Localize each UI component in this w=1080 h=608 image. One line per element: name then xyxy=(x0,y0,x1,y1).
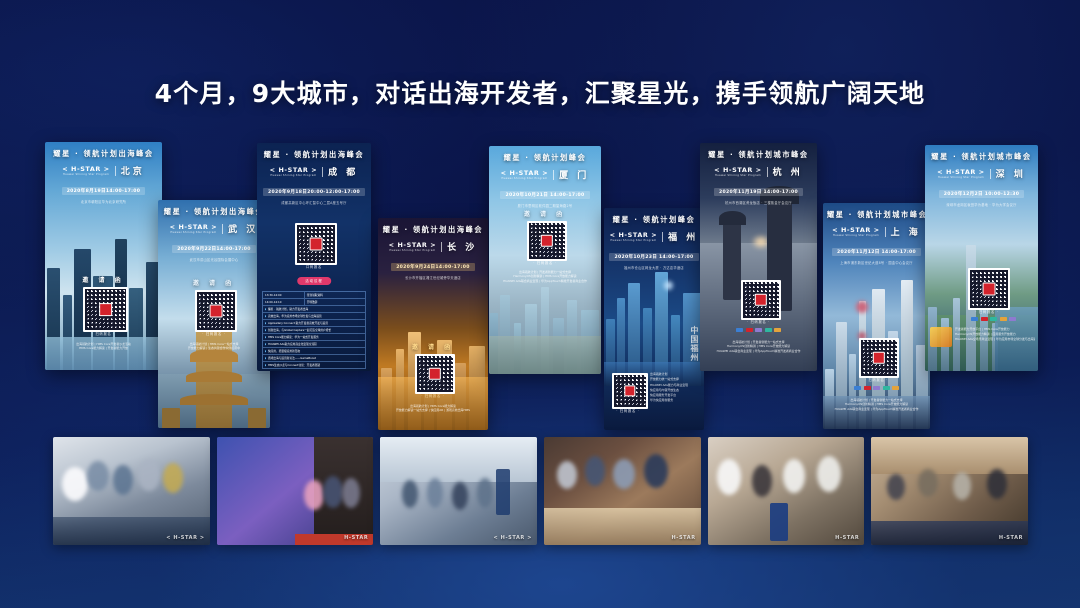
invite-label: 邀 请 函 xyxy=(489,209,601,218)
photo-watermark: H-STAR xyxy=(999,535,1023,541)
divider xyxy=(885,227,886,237)
qr-caption: · 扫码报名 · xyxy=(378,393,488,398)
poster-hangzhou[interactable]: 耀星 · 领航计划城市峰会 < H-STAR > Huawei Shining … xyxy=(700,143,817,371)
qr-code[interactable] xyxy=(859,338,899,378)
brand-logo: < H-STAR > Huawei Shining Star Program xyxy=(714,166,762,178)
poster-venue: 武汉市洪山区光谷国际会展中心 xyxy=(162,257,266,262)
table-row: 游戏出海与运营新玩法——GameBoost xyxy=(263,355,365,362)
fuzhou-skyline xyxy=(604,257,704,386)
poster-date: 2020年10月23日 14:00-17:00 xyxy=(609,253,698,261)
poster-footer: 出海领航计划 | 开发者新能力一站式支撑 HarmonyOS创新精讲 | HMS… xyxy=(826,398,927,411)
shanghai-header: 耀星 · 领航计划城市峰会 < H-STAR > Huawei Shining … xyxy=(823,203,930,271)
poster-footer: 开发者能力开放平台 | HMS Core开放能力 HarmonyOS开放能力精讲… xyxy=(955,327,1035,343)
poster-footer: 出海领航计划 开放能力统一站式支撑 HUAWEI Ads能力与商业变现 快应用与… xyxy=(650,372,701,404)
poster-shanghai[interactable]: 耀星 · 领航计划城市峰会 < H-STAR > Huawei Shining … xyxy=(823,203,930,429)
photo-stage-backdrop[interactable]: H-STAR xyxy=(217,437,374,545)
invite-label: 邀 请 函 xyxy=(45,275,162,284)
qr-caption: · 扫码报名 · xyxy=(158,331,270,336)
photo-tea-break[interactable]: H-STAR xyxy=(544,437,701,545)
divider xyxy=(441,242,442,252)
invite-label: 邀 请 函 xyxy=(378,342,488,351)
poster-title: 耀星 · 领航计划出海峰会 xyxy=(382,225,484,235)
divider xyxy=(990,169,991,179)
logo-hms-icon xyxy=(1009,317,1016,321)
qr-code[interactable] xyxy=(741,280,781,320)
qr-caption: · 扫码报名 · xyxy=(608,408,648,413)
table-row: 快应用，轻量级应用新形态 xyxy=(263,348,365,355)
logo-huawei-icon xyxy=(981,317,988,321)
photo-watermark: H-STAR xyxy=(344,535,368,541)
poster-fuzhou[interactable]: 耀星 · 领航计划峰会 < H-STAR > Huawei Shining St… xyxy=(604,208,704,430)
divider xyxy=(222,224,223,234)
chengdu-header: 耀星 · 领航计划出海峰会 < H-STAR > Huawei Shining … xyxy=(257,143,371,211)
logo-quickapp-icon xyxy=(990,317,997,321)
anniversary-badge-icon xyxy=(930,327,952,347)
brand-logo: < H-STAR > Huawei Shining Star Program xyxy=(270,166,318,178)
xiamen-header: 耀星 · 领航计划峰会 < H-STAR > Huawei Shining St… xyxy=(489,146,601,214)
table-row: HMS Core能力解读：华为一站式开发服务 xyxy=(263,334,365,341)
wuhan-header: 耀星 · 领航计划出海峰会 < H-STAR > Huawei Shining … xyxy=(158,200,270,268)
poster-date: 2020年9月24日14:00-17:00 xyxy=(391,263,475,271)
divider xyxy=(662,232,663,242)
divider xyxy=(322,167,323,177)
brand-logo: < H-STAR > Huawei Shining Star Program xyxy=(610,231,658,243)
qr-code[interactable] xyxy=(612,373,648,409)
poster-venue: 北京市朝阳区华为北京研究所 xyxy=(49,199,158,204)
qr-caption: · 扫码报名 · xyxy=(489,260,601,265)
poster-venue: 杭州市西湖区黄龙饭店 · 三楼紫金厅会议厅 xyxy=(704,200,813,205)
poster-collage: 耀星 · 领航计划出海峰会 < H-STAR > Huawei Shining … xyxy=(0,0,1080,440)
table-row: HUAWEI Ads助力应用商业化变现全流程 xyxy=(263,341,365,348)
fuzhou-calligraphy-watermark: 中国福州 xyxy=(690,326,699,362)
table-row: 创新出海，与Global Capture一起打造全球用户增长 xyxy=(263,327,365,334)
poster-venue: 上海市浦东新区世纪大道8号 · 国金中心会议厅 xyxy=(827,260,926,265)
table-row: 14:00-14:10开场致辞 xyxy=(263,299,365,306)
logo-appgallery-icon xyxy=(854,386,861,390)
logo-quickapp-icon xyxy=(765,328,772,332)
logo-hms-icon xyxy=(873,386,880,390)
poster-date: 2020年9月22日14:00-17:00 xyxy=(172,245,256,253)
logo-quickapp-icon xyxy=(883,386,890,390)
photo-watermark: < H-STAR > xyxy=(494,535,532,541)
logo-huawei-icon xyxy=(746,328,753,332)
brand-logo: < H-STAR > Huawei Shining Star Program xyxy=(832,226,880,238)
changsha-header: 耀星 · 领航计划出海峰会 < H-STAR > Huawei Shining … xyxy=(378,218,488,286)
poster-title: 耀星 · 领航计划出海峰会 xyxy=(49,149,158,159)
logo-appgallery-icon xyxy=(971,317,978,321)
poster-footer: 出海领航计划 | HMS Core一站式支撑 开放能力解读 | 生态共建合作伙伴… xyxy=(161,342,267,351)
qr-code[interactable] xyxy=(527,221,567,261)
qr-caption: · 扫码报名 · xyxy=(823,377,930,382)
poster-venue: 成都高新区中心环汇智中心二层A座五号厅 xyxy=(261,200,367,205)
qr-code[interactable] xyxy=(968,268,1010,310)
photo-attendee-chat[interactable]: H-STAR xyxy=(708,437,865,545)
qr-caption: · 扫码报名 · xyxy=(953,309,1021,314)
table-row: 13:30-14:00签到领取资料 xyxy=(263,292,365,299)
partner-logo-row xyxy=(700,328,817,332)
poster-footer: 出海领航计划 | 开发者新能力一站式支撑 HarmonyOS创新精讲 | HMS… xyxy=(492,270,598,283)
poster-city: 厦 门 xyxy=(559,168,589,181)
poster-footer: 出海领航计划 | HMS Core能力解读 开放能力解读一站式支撑 | 快应用A… xyxy=(381,404,485,413)
poster-venue: 长沙市开福区湘江世纪城旁华天酒店 xyxy=(382,275,484,280)
brand-logo: < H-STAR > Huawei Shining Star Program xyxy=(170,223,218,235)
brand-logo: < H-STAR > Huawei Shining Star Program xyxy=(389,241,437,253)
poster-city: 上 海 xyxy=(891,225,921,238)
poster-footer: 出海领航计划 | HMS Core开发者沙龙活动 HMS Core能力解读 | … xyxy=(48,342,159,351)
poster-city: 武 汉 xyxy=(228,222,258,235)
qr-caption: 口码报名 xyxy=(257,264,371,269)
logo-appgallery-icon xyxy=(736,328,743,332)
divider xyxy=(553,170,554,180)
poster-beijing[interactable]: 耀星 · 领航计划出海峰会 < H-STAR > Huawei Shining … xyxy=(45,142,162,370)
poster-title: 耀星 · 领航计划城市峰会 xyxy=(827,210,926,220)
poster-title: 耀星 · 领航计划出海峰会 xyxy=(261,150,367,160)
logo-hms-icon xyxy=(755,328,762,332)
partner-logo-row xyxy=(953,317,1034,321)
qr-caption: · 扫码报名 · xyxy=(700,319,817,324)
poster-title: 耀星 · 领航计划峰会 xyxy=(493,153,597,163)
beijing-header: 耀星 · 领航计划出海峰会 < H-STAR > Huawei Shining … xyxy=(45,142,162,210)
poster-date: 2020年11月19日 14:00-17:00 xyxy=(714,188,803,196)
logo-ads-icon xyxy=(1000,317,1007,321)
photo-watermark: H-STAR xyxy=(835,535,859,541)
poster-xiamen[interactable]: 耀星 · 领航计划峰会 < H-STAR > Huawei Shining St… xyxy=(489,146,601,374)
poster-city: 深 圳 xyxy=(996,167,1026,180)
poster-date: 2020年8月19日14:00-17:00 xyxy=(62,187,146,195)
slide-canvas: 4个月，9大城市，对话出海开发者，汇聚星光，携手领航广阔天地 耀星 · 领航计划… xyxy=(0,0,1080,608)
poster-date: 2020年10月21日 14:00-17:00 xyxy=(500,191,589,199)
qr-caption: · 扫码报名 · xyxy=(45,331,162,336)
brand-logo: < H-STAR > Huawei Shining Star Program xyxy=(62,165,110,177)
logo-ads-icon xyxy=(774,328,781,332)
poster-venue: 厦门市思明区软件园二期望海路2号 xyxy=(493,203,597,208)
photo-audience-seats[interactable]: H-STAR xyxy=(871,437,1028,545)
qr-code[interactable] xyxy=(195,290,237,332)
poster-city: 长 沙 xyxy=(447,240,477,253)
invite-label: 邀 请 函 xyxy=(158,278,270,287)
brand-logo: < H-STAR > Huawei Shining Star Program xyxy=(501,169,549,181)
poster-date: 2020年12月2日 10:00-12:30 xyxy=(939,190,1025,198)
qr-code[interactable] xyxy=(415,354,455,394)
event-photo-strip: < H-STAR > H-STAR < H-STAR > H xyxy=(53,437,1028,545)
agenda-badge: 活动议程 xyxy=(297,277,331,285)
fuzhou-header: 耀星 · 领航计划峰会 < H-STAR > Huawei Shining St… xyxy=(604,208,704,276)
divider xyxy=(767,167,768,177)
hangzhou-header: 耀星 · 领航计划城市峰会 < H-STAR > Huawei Shining … xyxy=(700,143,817,211)
poster-wuhan[interactable]: 耀星 · 领航计划出海峰会 < H-STAR > Huawei Shining … xyxy=(158,200,270,428)
agenda-table: 13:30-14:00签到领取资料 14:00-14:10开场致辞 耀星 · 领… xyxy=(262,291,366,369)
logo-ads-icon xyxy=(892,386,899,390)
shenzhen-header: 耀星 · 领航计划城市峰会 < H-STAR > Huawei Shining … xyxy=(925,145,1038,213)
divider xyxy=(115,166,116,176)
poster-date: 2020年9月18日20:00-12:00-17:00 xyxy=(263,188,365,196)
xiamen-skyline xyxy=(489,246,601,374)
poster-city: 杭 州 xyxy=(773,165,803,178)
table-row: HMS生态沙龙与Connect讨论：开发者答疑 xyxy=(263,362,365,368)
poster-city: 北京 xyxy=(121,164,145,177)
table-row: 高效出海，华为应用市场全球分发与出海运营 xyxy=(263,313,365,320)
poster-title: 耀星 · 领航计划峰会 xyxy=(608,215,700,225)
qr-code[interactable] xyxy=(83,287,128,332)
poster-shenzhen[interactable]: 耀星 · 领航计划城市峰会 < H-STAR > Huawei Shining … xyxy=(925,145,1038,371)
photo-watermark: H-STAR xyxy=(671,535,695,541)
qr-code[interactable] xyxy=(295,223,337,265)
photo-exhibition-hall[interactable]: < H-STAR > xyxy=(380,437,537,545)
logo-huawei-icon xyxy=(864,386,871,390)
poster-title: 耀星 · 领航计划城市峰会 xyxy=(704,150,813,160)
poster-chengdu[interactable]: 耀星 · 领航计划出海峰会 < H-STAR > Huawei Shining … xyxy=(257,143,371,371)
poster-city: 福 州 xyxy=(668,230,698,243)
poster-venue: 深圳市龙岗区坂田华为基地 · 华为大学会议厅 xyxy=(929,202,1034,207)
brand-logo: < H-STAR > Huawei Shining Star Program xyxy=(937,168,985,180)
table-row: AppGallery Connect 助力开发者高效开发与运营 xyxy=(263,320,365,327)
poster-city: 成 都 xyxy=(328,165,358,178)
poster-footer: 出海领航计划 | 开发者新能力一站式支撑 HarmonyOS创新精讲 | HMS… xyxy=(703,340,814,353)
photo-registration-desk[interactable]: < H-STAR > xyxy=(53,437,210,545)
poster-venue: 福州市仓山区网龙大厦 · 万达嘉华酒店 xyxy=(608,265,700,270)
poster-changsha[interactable]: 耀星 · 领航计划出海峰会 < H-STAR > Huawei Shining … xyxy=(378,218,488,430)
poster-title: 耀星 · 领航计划出海峰会 xyxy=(162,207,266,217)
table-row: 耀星 · 领航计划，助力开发者出海 xyxy=(263,306,365,313)
photo-watermark: < H-STAR > xyxy=(166,535,204,541)
partner-logo-row xyxy=(823,386,930,390)
poster-date: 2020年11月12日 14:00-17:00 xyxy=(832,248,921,256)
poster-title: 耀星 · 领航计划城市峰会 xyxy=(929,152,1034,162)
